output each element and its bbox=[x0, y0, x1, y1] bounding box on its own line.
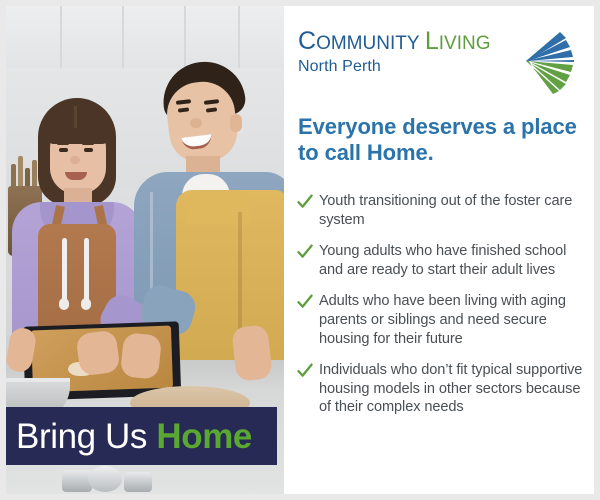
hand bbox=[75, 329, 120, 376]
logo-subtitle: North Perth bbox=[298, 58, 534, 76]
list-item: Adults who have been living with aging p… bbox=[296, 292, 588, 348]
hair-part bbox=[74, 106, 77, 128]
organization-logo[interactable]: COMMUNITY LIVING North Perth bbox=[298, 28, 584, 98]
check-icon bbox=[296, 362, 314, 380]
ear bbox=[230, 114, 242, 132]
hand bbox=[231, 324, 272, 381]
eyebrow bbox=[82, 142, 94, 145]
hoodie-drawstring bbox=[84, 238, 89, 304]
logo-word-community: COMMUNITY bbox=[298, 27, 420, 55]
logo-wordmark: COMMUNITY LIVING North Perth bbox=[298, 28, 534, 76]
audience-list: Youth transitioning out of the foster ca… bbox=[296, 192, 588, 430]
cookie-cutters bbox=[62, 464, 158, 492]
logo-word-living: LIVING bbox=[420, 27, 491, 55]
banner-text-green: Home bbox=[156, 417, 252, 456]
check-icon bbox=[296, 193, 314, 211]
list-item: Individuals who don’t fit typical suppor… bbox=[296, 361, 588, 417]
list-item-text: Individuals who don’t fit typical suppor… bbox=[319, 361, 588, 417]
list-item: Youth transitioning out of the foster ca… bbox=[296, 192, 588, 229]
list-item-text: Young adults who have finished school an… bbox=[319, 242, 588, 279]
banner-text-white: Bring Us bbox=[16, 417, 156, 456]
cabinet-door bbox=[124, 6, 186, 70]
drawstring-tip bbox=[59, 298, 69, 310]
page-headline: Everyone deserves a place to call Home. bbox=[298, 114, 578, 166]
frame-bottom-edge bbox=[0, 493, 600, 500]
check-icon bbox=[296, 293, 314, 311]
nose bbox=[70, 156, 80, 164]
nose bbox=[190, 118, 202, 128]
cabinet-door bbox=[186, 6, 240, 70]
hoodie-drawstring bbox=[62, 238, 67, 304]
cabinet-door bbox=[62, 6, 124, 70]
poster-canvas: Bring Us Home COMMUNITY LIVING North Per… bbox=[0, 0, 600, 500]
list-item-text: Youth transitioning out of the foster ca… bbox=[319, 192, 588, 229]
eye bbox=[84, 148, 93, 152]
drawstring-tip bbox=[81, 298, 91, 310]
cabinet-door bbox=[240, 6, 284, 70]
hand bbox=[120, 332, 162, 380]
radiating-diamond-logo-mark bbox=[520, 28, 582, 94]
frame-right-edge bbox=[593, 0, 600, 500]
content-panel: COMMUNITY LIVING North Perth bbox=[284, 6, 594, 494]
list-item-text: Adults who have been living with aging p… bbox=[319, 292, 588, 348]
logo-line-primary: COMMUNITY LIVING bbox=[298, 28, 534, 57]
check-icon bbox=[296, 243, 314, 261]
bring-us-home-banner: Bring Us Home bbox=[6, 407, 277, 465]
eye bbox=[59, 148, 68, 152]
banner-headline: Bring Us Home bbox=[6, 419, 252, 454]
eyebrow bbox=[57, 142, 69, 145]
cabinet-door bbox=[6, 6, 62, 70]
list-item: Young adults who have finished school an… bbox=[296, 242, 588, 279]
